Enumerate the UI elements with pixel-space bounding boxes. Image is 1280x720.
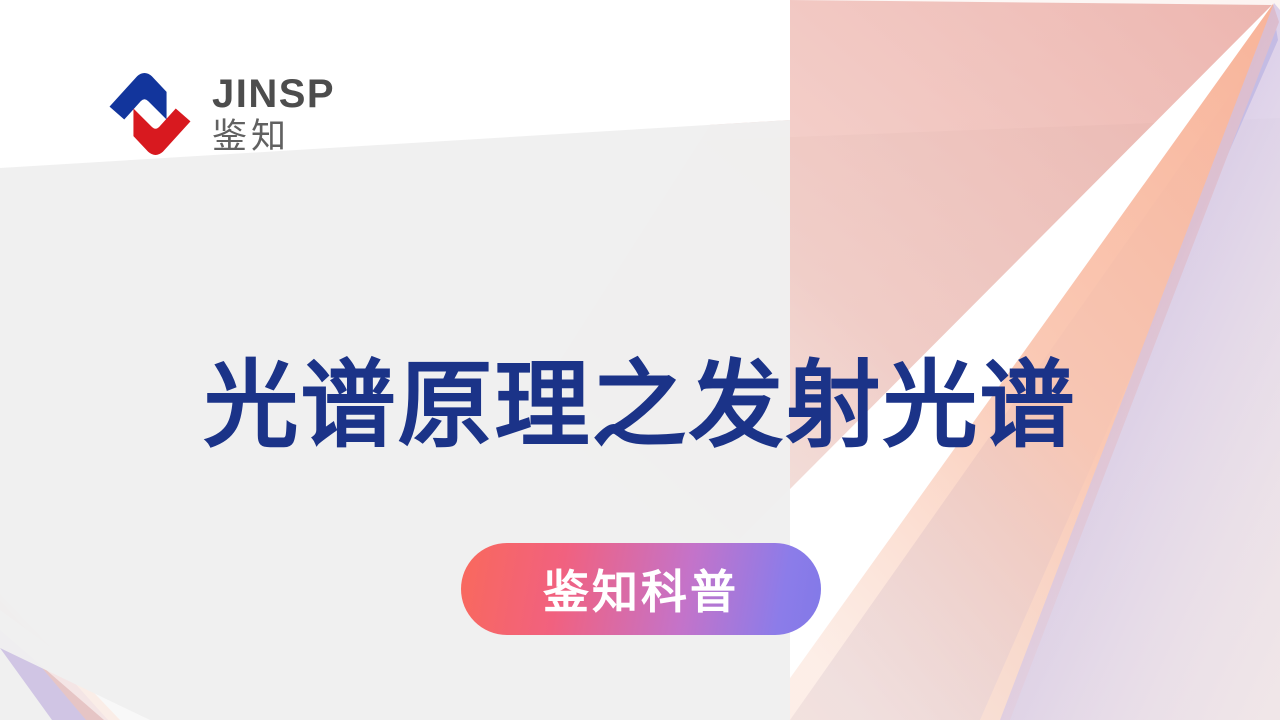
pill-button-label: 鉴知科普 — [543, 556, 739, 622]
logo-shape-blue — [110, 73, 167, 119]
logo-shape-red — [133, 108, 190, 154]
jinsp-logo-mark-icon — [104, 68, 196, 160]
brand-logo[interactable]: JINSP 鉴知 — [104, 68, 335, 160]
slide-root: JINSP 鉴知 光谱原理之发射光谱 鉴知科普 — [0, 0, 1280, 720]
logo-latin-text: JINSP — [212, 74, 335, 114]
logo-wordmark: JINSP 鉴知 — [212, 74, 335, 155]
logo-chinese-text: 鉴知 — [212, 120, 335, 155]
page-title: 光谱原理之发射光谱 — [0, 352, 1280, 461]
jianzhi-kepu-pill-button[interactable]: 鉴知科普 — [461, 543, 821, 635]
